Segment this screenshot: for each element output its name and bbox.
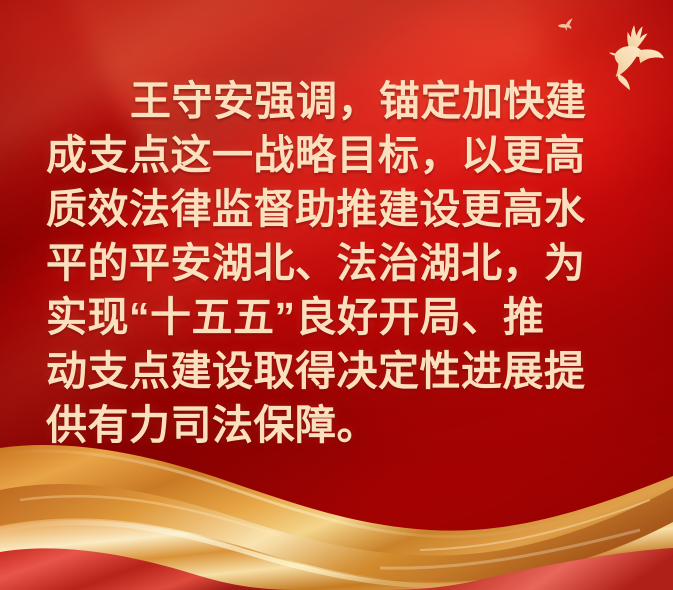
gold-silk-ribbon (0, 430, 673, 590)
headline-text: 王守安强调，锚定加快建 成支点这一战略目标，以更高 质效法律监督助推建设更高水 … (0, 74, 673, 452)
headline-line-3: 质效法律监督助推建设更高水 (46, 182, 627, 236)
headline-line-6: 动支点建设取得决定性进展提 (46, 344, 627, 398)
headline-line-5: 实现“十五五”良好开局、推 (46, 290, 627, 344)
dove-small-icon (556, 16, 575, 33)
headline-line-2: 成支点这一战略目标，以更高 (46, 128, 627, 182)
headline-line-1: 王守安强调，锚定加快建 (46, 74, 627, 128)
propaganda-poster: 王守安强调，锚定加快建 成支点这一战略目标，以更高 质效法律监督助推建设更高水 … (0, 0, 673, 590)
headline-line-4: 平的平安湖北、法治湖北，为 (46, 236, 627, 290)
